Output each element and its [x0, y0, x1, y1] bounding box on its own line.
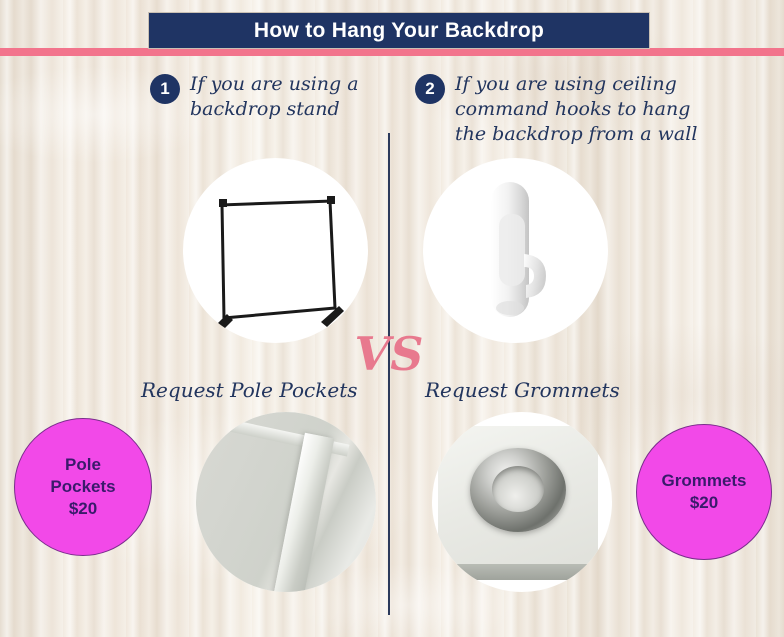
- backdrop-stand-illustration: [183, 158, 368, 343]
- pole-pockets-price-badge[interactable]: Pole Pockets $20: [14, 418, 152, 556]
- grommet-ring-hole: [492, 466, 544, 512]
- badge-right-line-1: Grommets: [661, 470, 746, 492]
- command-hook-photo: [423, 158, 608, 343]
- step-2-line-2: command hooks to hang: [455, 97, 697, 122]
- badge-left-line-3: $20: [69, 498, 97, 520]
- page-title: How to Hang Your Backdrop: [254, 19, 544, 43]
- backdrop-stand-photo: [183, 158, 368, 343]
- step-2-line-3: the backdrop from a wall: [455, 122, 697, 147]
- step-1-line-1: If you are using a: [190, 72, 359, 97]
- grommet-fabric-edge: [438, 564, 598, 580]
- vs-label: VS: [352, 331, 426, 377]
- step-2-number-badge: 2: [415, 74, 445, 104]
- badge-left-line-2: Pockets: [50, 476, 115, 498]
- step-2-text: If you are using ceiling command hooks t…: [455, 72, 697, 147]
- command-hook-icon: [423, 158, 608, 343]
- step-1-header: 1 If you are using a backdrop stand: [150, 72, 380, 122]
- right-caption: Request Grommets: [425, 378, 620, 402]
- pole-pocket-fabric-photo: [196, 412, 376, 592]
- badge-left-line-1: Pole: [65, 454, 101, 476]
- pink-accent-bar: [0, 48, 784, 56]
- grommets-price-badge[interactable]: Grommets $20: [636, 424, 772, 560]
- step-1-line-2: backdrop stand: [190, 97, 359, 122]
- step-2-line-1: If you are using ceiling: [455, 72, 697, 97]
- step-1-number-badge: 1: [150, 74, 180, 104]
- step-1-text: If you are using a backdrop stand: [190, 72, 359, 122]
- grommet-fabric-photo: [432, 412, 612, 592]
- badge-right-line-2: $20: [690, 492, 718, 514]
- title-banner: How to Hang Your Backdrop: [148, 12, 650, 49]
- stand-frame-icon: [183, 158, 368, 343]
- left-caption: Request Pole Pockets: [141, 378, 358, 402]
- infographic-canvas: How to Hang Your Backdrop 1 If you are u…: [0, 0, 784, 637]
- step-2-header: 2 If you are using ceiling command hooks…: [415, 72, 735, 147]
